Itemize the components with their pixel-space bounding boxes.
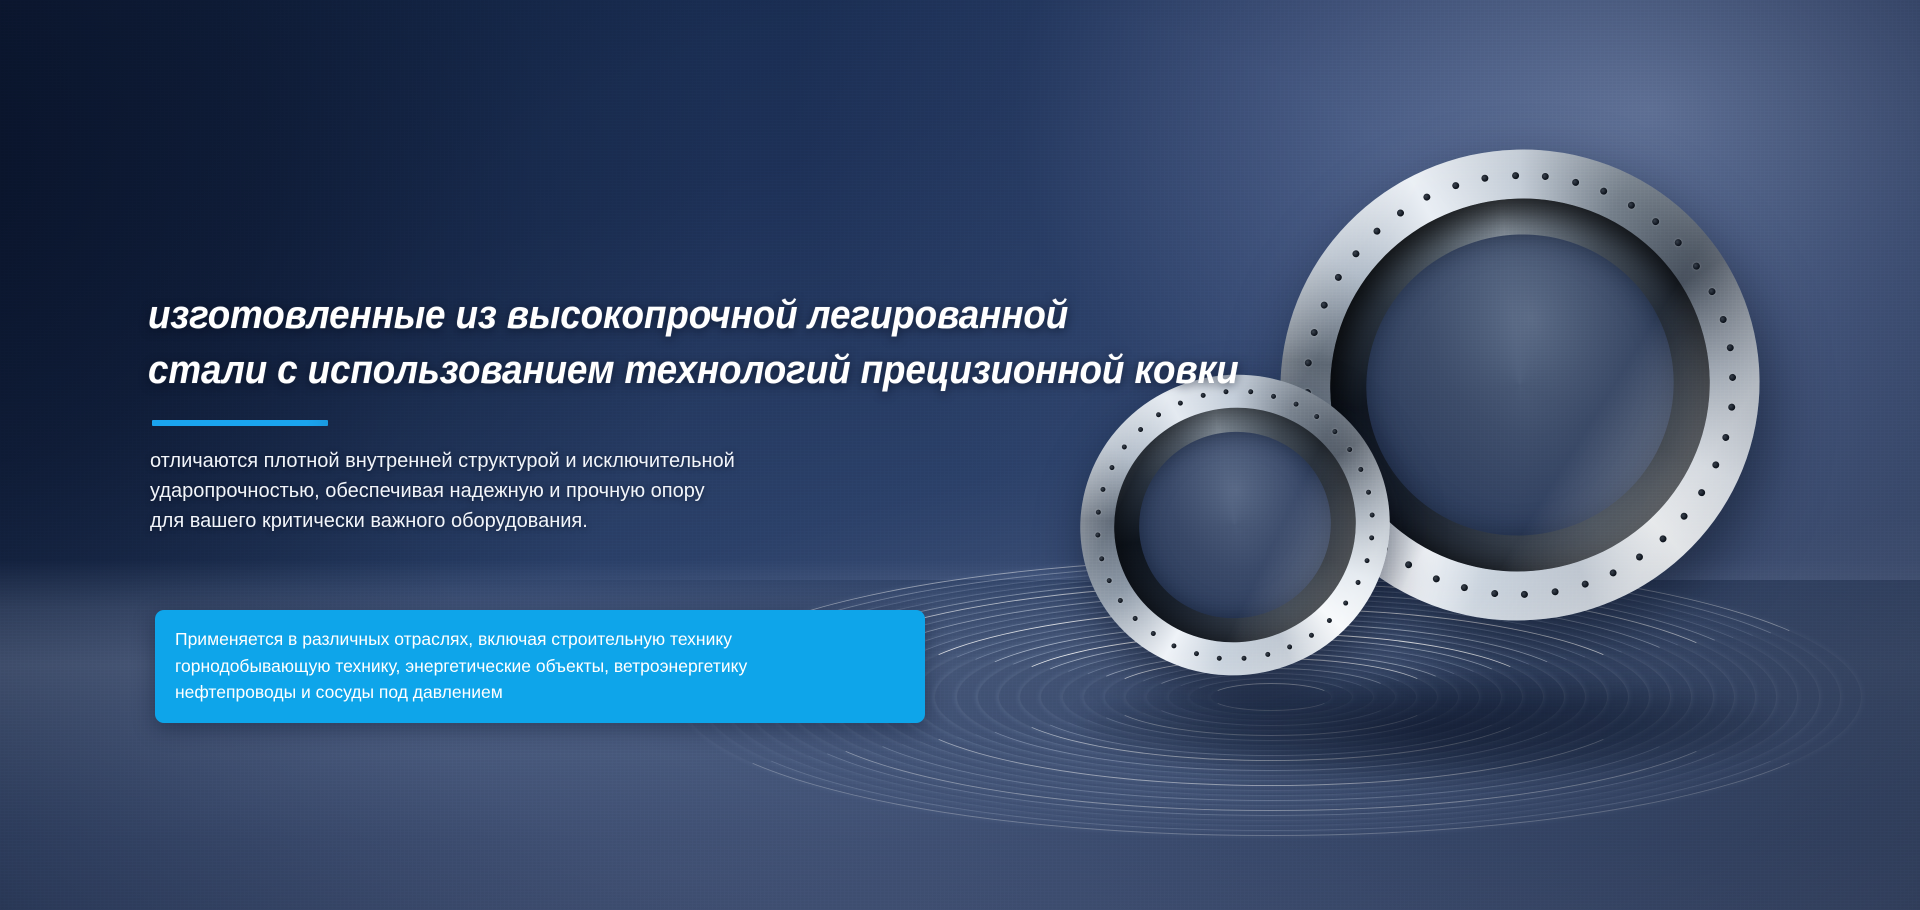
callout-line-3: нефтепроводы и сосуды под давлением bbox=[175, 679, 905, 706]
description-line-3: для вашего критически важного оборудован… bbox=[150, 506, 1048, 536]
headline-line-2: стали с использованием технологий прециз… bbox=[148, 343, 976, 398]
hero-content: изготовленные из высокопрочной легирован… bbox=[148, 288, 1048, 536]
callout-line-2: горнодобывающую технику, энергетические … bbox=[175, 653, 905, 680]
headline-line-1: изготовленные из высокопрочной легирован… bbox=[148, 288, 976, 343]
hero-banner: изготовленные из высокопрочной легирован… bbox=[0, 0, 1920, 910]
applications-callout: Применяется в различных отраслях, включа… bbox=[155, 610, 925, 723]
hero-description: отличаются плотной внутренней структурой… bbox=[150, 446, 1048, 536]
description-line-2: ударопрочностью, обеспечивая надежную и … bbox=[150, 476, 1048, 506]
callout-line-1: Применяется в различных отраслях, включа… bbox=[175, 626, 905, 653]
description-line-1: отличаются плотной внутренней структурой… bbox=[150, 446, 1048, 476]
page-title: изготовленные из высокопрочной легирован… bbox=[148, 288, 976, 398]
accent-divider bbox=[152, 420, 328, 426]
